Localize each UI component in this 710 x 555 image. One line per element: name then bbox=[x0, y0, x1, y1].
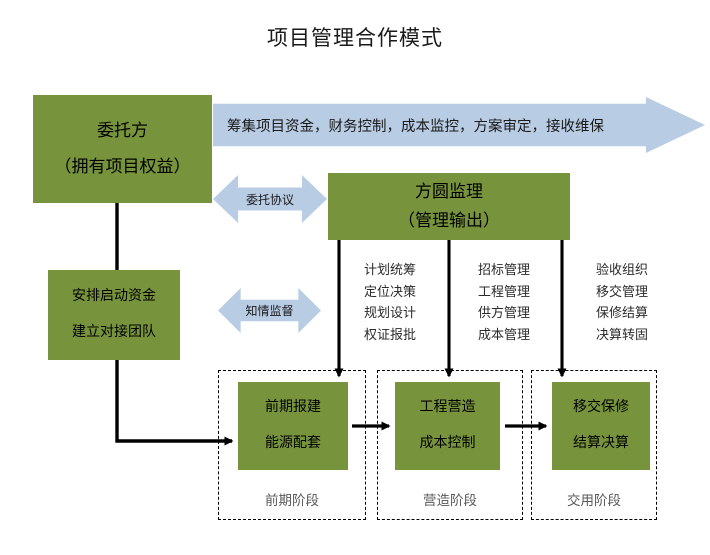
node-phase-3-line2: 结算决算 bbox=[573, 433, 629, 455]
node-funding-line1: 安排启动资金 bbox=[72, 286, 156, 308]
duty-item: 招标管理 bbox=[466, 259, 542, 281]
duty-item: 工程管理 bbox=[466, 281, 542, 303]
duty-item: 验收组织 bbox=[584, 259, 660, 281]
arrow-label-agreement: 委托协议 bbox=[246, 191, 294, 208]
node-phase-2-line1: 工程营造 bbox=[420, 397, 476, 419]
node-client-line2: （拥有项目权益） bbox=[55, 154, 191, 180]
duty-item: 成本管理 bbox=[466, 324, 542, 346]
duty-item: 移交管理 bbox=[584, 281, 660, 303]
duty-item: 决算转固 bbox=[584, 324, 660, 346]
node-funding-line2: 建立对接团队 bbox=[72, 322, 156, 344]
node-client[interactable]: 委托方 （拥有项目权益） bbox=[33, 95, 212, 203]
double-arrow-agreement-icon: 委托协议 bbox=[213, 175, 327, 223]
arrow-label-supervision: 知情监督 bbox=[245, 302, 293, 319]
diagram-canvas: 项目管理合作模式 筹集项目资金，财务控制，成本监控，方案审定，接收维保 委托方 … bbox=[0, 0, 710, 555]
node-supervisor-line2: （管理输出） bbox=[398, 208, 500, 234]
responsibilities-banner-arrow: 筹集项目资金，财务控制，成本监控，方案审定，接收维保 bbox=[213, 97, 705, 153]
duty-item: 保修结算 bbox=[584, 302, 660, 324]
node-phase-2-line2: 成本控制 bbox=[420, 433, 476, 455]
node-supervisor[interactable]: 方圆监理 （管理输出） bbox=[328, 173, 570, 240]
duty-item: 权证报批 bbox=[352, 324, 428, 346]
node-phase-3[interactable]: 移交保修 结算决算 bbox=[552, 382, 650, 470]
node-supervisor-line1: 方圆监理 bbox=[415, 179, 483, 205]
node-phase-1-line1: 前期报建 bbox=[265, 397, 321, 419]
page-title: 项目管理合作模式 bbox=[0, 22, 710, 52]
duty-column-1: 计划统筹 定位决策 规划设计 权证报批 bbox=[352, 259, 428, 345]
node-phase-1-line2: 能源配套 bbox=[265, 433, 321, 455]
duty-item: 规划设计 bbox=[352, 302, 428, 324]
node-client-line1: 委托方 bbox=[97, 118, 148, 144]
node-funding[interactable]: 安排启动资金 建立对接团队 bbox=[48, 270, 180, 360]
duty-column-3: 验收组织 移交管理 保修结算 决算转固 bbox=[584, 259, 660, 345]
duty-column-2: 招标管理 工程管理 供方管理 成本管理 bbox=[466, 259, 542, 345]
node-phase-2[interactable]: 工程营造 成本控制 bbox=[395, 382, 500, 470]
duty-item: 供方管理 bbox=[466, 302, 542, 324]
phase-label-2: 营造阶段 bbox=[377, 489, 523, 509]
node-phase-1[interactable]: 前期报建 能源配套 bbox=[238, 382, 348, 470]
banner-text: 筹集项目资金，财务控制，成本监控，方案审定，接收维保 bbox=[227, 115, 604, 136]
phase-label-1: 前期阶段 bbox=[218, 489, 366, 509]
phase-label-3: 交用阶段 bbox=[531, 489, 657, 509]
duty-item: 定位决策 bbox=[352, 281, 428, 303]
duty-item: 计划统筹 bbox=[352, 259, 428, 281]
node-phase-3-line1: 移交保修 bbox=[573, 397, 629, 419]
double-arrow-supervision-icon: 知情监督 bbox=[218, 288, 321, 333]
